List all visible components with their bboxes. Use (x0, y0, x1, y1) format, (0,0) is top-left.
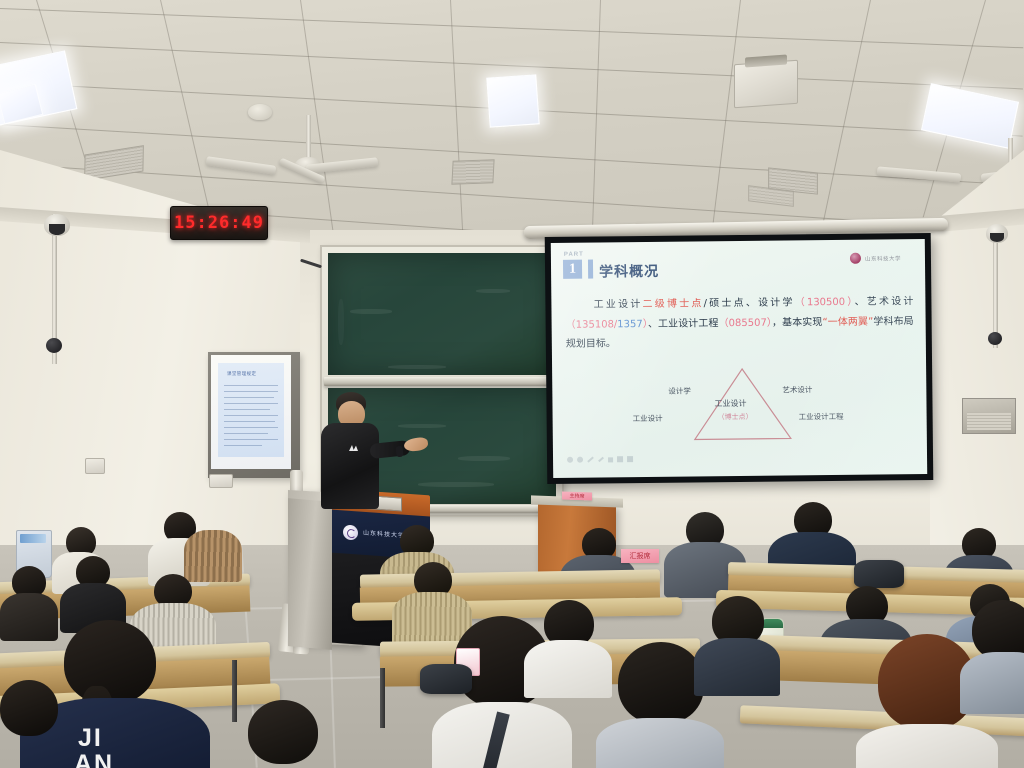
camera-right-lower-icon (988, 332, 1002, 345)
university-seal-icon (850, 253, 861, 264)
clock-time: 15:26:49 (174, 213, 264, 233)
triangle-label-center: 工业设计 (714, 398, 746, 409)
person-torso (960, 652, 1024, 714)
ceiling-light-2 (486, 74, 539, 127)
body-seg-9: 、工业设计工程 (648, 318, 719, 330)
body-seg-1: 工业设计 (591, 299, 642, 311)
podium-side-panel (288, 498, 332, 650)
footer-x-icon (608, 457, 613, 462)
slide-title-bar (588, 260, 593, 279)
dome-camera-right-icon (986, 224, 1008, 243)
ceiling-light-4 (0, 84, 43, 125)
footer-circle-icon (567, 457, 573, 463)
dome-camera-left-icon (44, 214, 70, 236)
triangle-label-top-right: 艺术设计 (782, 384, 812, 395)
name-card-report: 汇报席 (621, 549, 659, 563)
wall-outlet-poster[interactable] (209, 474, 233, 488)
body-seg-12: “一体两翼” (822, 316, 873, 328)
presenter-hand (403, 436, 429, 452)
triangle-label-right: 工业设计工程 (799, 411, 844, 422)
person-torso (694, 638, 780, 696)
presenter-torso (321, 423, 379, 509)
wall-outlet-left[interactable] (85, 458, 105, 474)
person-head (0, 680, 58, 736)
classroom-scene: 15:26:49 课堂管理规定 (0, 0, 1024, 768)
body-seg-3: /硕士点、设计学 (704, 297, 795, 309)
slide-part-number: 1 (563, 260, 582, 279)
footer-slash-icon (587, 457, 594, 463)
slide-footer-icon-strip (567, 456, 633, 463)
body-seg-5: 、艺术设计 (854, 296, 913, 308)
audience-person-4 (60, 556, 126, 628)
black-backpack (854, 560, 904, 588)
presentation-slide: PART 1 学科概况 山东科技大学 工业设计二级博士点/硕士点、设计学（130… (551, 239, 927, 478)
triangle-label-center-sub: （博士点） (718, 412, 753, 422)
audience-person-20 (960, 600, 1024, 708)
presenter-watch (395, 446, 403, 458)
person-head (248, 700, 318, 764)
ceiling-vent-2 (451, 159, 494, 185)
wall-plaque-right (962, 398, 1016, 434)
body-seg-11: ，基本实现 (772, 317, 823, 329)
triangle-label-left: 工业设计 (633, 413, 663, 424)
body-seg-4: （130500） (795, 297, 855, 309)
wall-notice-poster: 课堂管理规定 (208, 352, 300, 478)
body-seg-6: （135108/ (566, 319, 618, 331)
person-torso (524, 640, 612, 698)
footer-square-icon (617, 456, 623, 462)
person-torso (856, 724, 998, 768)
ceiling-fan-left (248, 115, 368, 195)
audience-person-22 (0, 680, 90, 768)
audience-person-16 (222, 700, 342, 768)
person-head (972, 600, 1024, 660)
slide-part-word: PART (564, 252, 584, 258)
slide-body-text: 工业设计二级博士点/硕士点、设计学（130500）、艺术设计（135108/13… (565, 292, 914, 354)
footer-pen-icon (598, 457, 604, 462)
chalkboard-panel-top (328, 253, 556, 375)
audience-person-3 (184, 505, 242, 579)
camera-mount-pole-right (993, 228, 998, 348)
podium-university-logo-icon (343, 524, 358, 540)
audience-person-18 (524, 600, 612, 694)
projection-screen-border: PART 1 学科概况 山东科技大学 工业设计二级博士点/硕士点、设计学（130… (545, 233, 934, 484)
triangle-diagram: 设计学 艺术设计 工业设计 工业设计工程 工业设计 （博士点） (622, 364, 863, 449)
wall-led-clock: 15:26:49 (170, 206, 268, 240)
audience-person-23 (330, 652, 406, 712)
polo-brand-logo-icon (348, 444, 360, 452)
presenter-speaker (316, 392, 426, 510)
slide-title: 学科概况 (599, 261, 659, 282)
poster-title: 课堂管理规定 (227, 371, 256, 377)
camera-left-lower-icon (46, 338, 62, 353)
ceiling-speaker-box (734, 60, 798, 108)
university-seal-text: 山东科技大学 (865, 254, 901, 262)
chalk-tray (324, 377, 560, 386)
name-card-report-text: 汇报席 (630, 551, 651, 561)
desk-bag (420, 664, 472, 694)
name-card-host: 主持席 (562, 491, 592, 500)
body-seg-2: 二级博士点 (642, 298, 703, 310)
name-card-host-text: 主持席 (569, 492, 584, 500)
recycle-bin-label (20, 534, 46, 543)
body-seg-10: （085507） (718, 317, 772, 329)
person-torso (596, 718, 724, 768)
triangle-label-top-left: 设计学 (668, 386, 691, 397)
audience-person-21 (694, 596, 780, 690)
ceiling-vent-1 (84, 145, 144, 181)
footer-square2-icon (627, 456, 633, 462)
body-seg-7: 1357 (617, 319, 643, 330)
person-head (618, 642, 704, 724)
footer-dot-icon (577, 457, 583, 463)
